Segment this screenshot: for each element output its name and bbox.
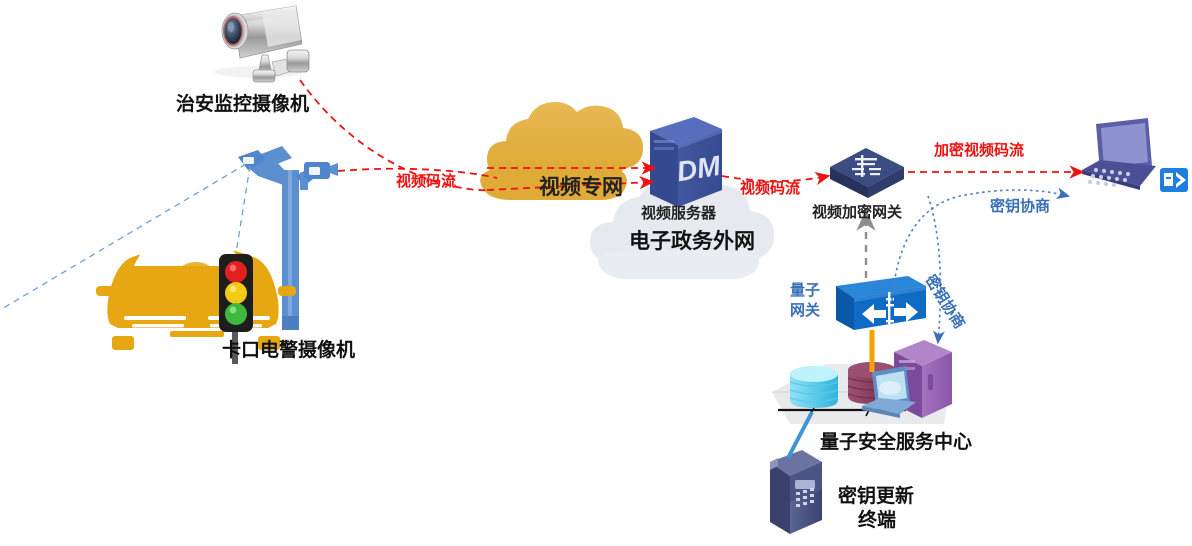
monitor-client-laptop-icon: [1082, 118, 1156, 190]
quantum-gateway-icon: [836, 276, 926, 330]
checkpoint-camera-label: 卡口电警摄像机: [222, 340, 355, 362]
video-encryption-gateway-label: 视频加密网关: [812, 204, 902, 221]
quantum-gateway-label-line1: 量子: [790, 282, 820, 299]
key-update-terminal-label-line1: 密钥更新: [838, 486, 914, 508]
car-icon: [96, 232, 296, 350]
network-diagram-canvas: DM: [0, 0, 1192, 546]
video-server-label: 视频服务器: [641, 205, 716, 222]
video-server-icon: DM: [650, 117, 723, 207]
video-stream-left-label: 视频码流: [396, 173, 456, 190]
key-negotiation-client-label: 密钥协商: [990, 198, 1050, 215]
key-update-terminal-label-line2: 终端: [858, 510, 896, 532]
quantum-security-center-icon: [772, 340, 952, 424]
diagram-graphics: DM: [0, 0, 1192, 546]
video-stream-right-label: 视频码流: [740, 180, 800, 197]
link-key-negotiation-datacenter: [928, 196, 940, 342]
quantum-gateway-label-line2: 网关: [790, 302, 820, 319]
quantum-security-center-label: 量子安全服务中心: [820, 432, 972, 454]
video-private-network-label: 视频专网: [539, 176, 623, 200]
video-encryption-gateway-icon: [830, 148, 904, 198]
security-camera-label: 治安监控摄像机: [176, 94, 309, 116]
egov-extranet-label: 电子政务外网: [629, 230, 755, 254]
encrypted-video-stream-label: 加密视频码流: [934, 142, 1024, 159]
key-update-terminal-icon: [770, 450, 822, 534]
client-badge-icon: [1160, 168, 1188, 192]
security-camera-icon: [214, 6, 309, 82]
